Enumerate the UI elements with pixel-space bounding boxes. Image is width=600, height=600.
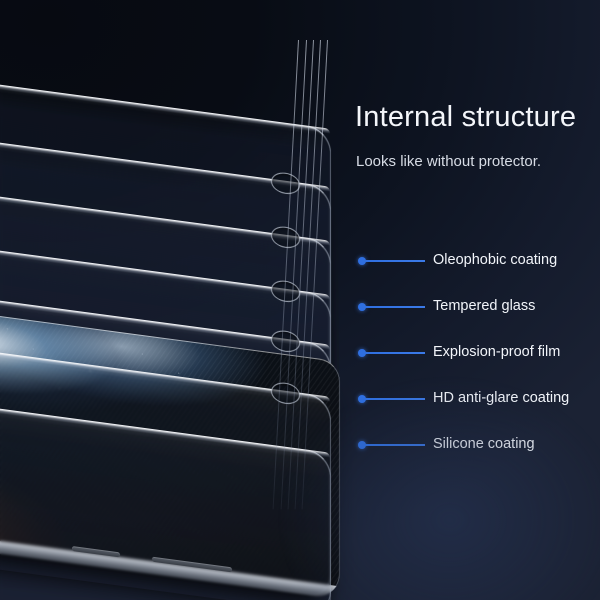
callout-explosion-proof-film: Explosion-proof film [358,340,600,386]
callout-list: Oleophobic coating Tempered glass Explos… [358,248,600,478]
callout-label: HD anti-glare coating [433,390,569,406]
callout-leader-line [365,352,425,354]
page-title: Internal structure [355,101,576,134]
layer-edge-highlight [0,62,330,134]
callout-leader-line [365,306,425,308]
glass-layer-stack [0,0,380,600]
callout-leader-line [365,260,425,262]
callout-label: Silicone coating [433,436,535,452]
callout-tempered-glass: Tempered glass [358,294,600,340]
callout-label: Explosion-proof film [433,344,560,360]
product-illustration: Internal structure Looks like without pr… [0,0,600,600]
page-subtitle: Looks like without protector. [356,153,541,170]
callout-leader-line [365,398,425,400]
callout-hd-anti-glare-coating: HD anti-glare coating [358,386,600,432]
callout-oleophobic-coating: Oleophobic coating [358,248,600,294]
callout-label: Oleophobic coating [433,252,557,268]
callout-label: Tempered glass [433,298,535,314]
callout-leader-line [365,444,425,446]
callout-silicone-coating: Silicone coating [358,432,600,478]
